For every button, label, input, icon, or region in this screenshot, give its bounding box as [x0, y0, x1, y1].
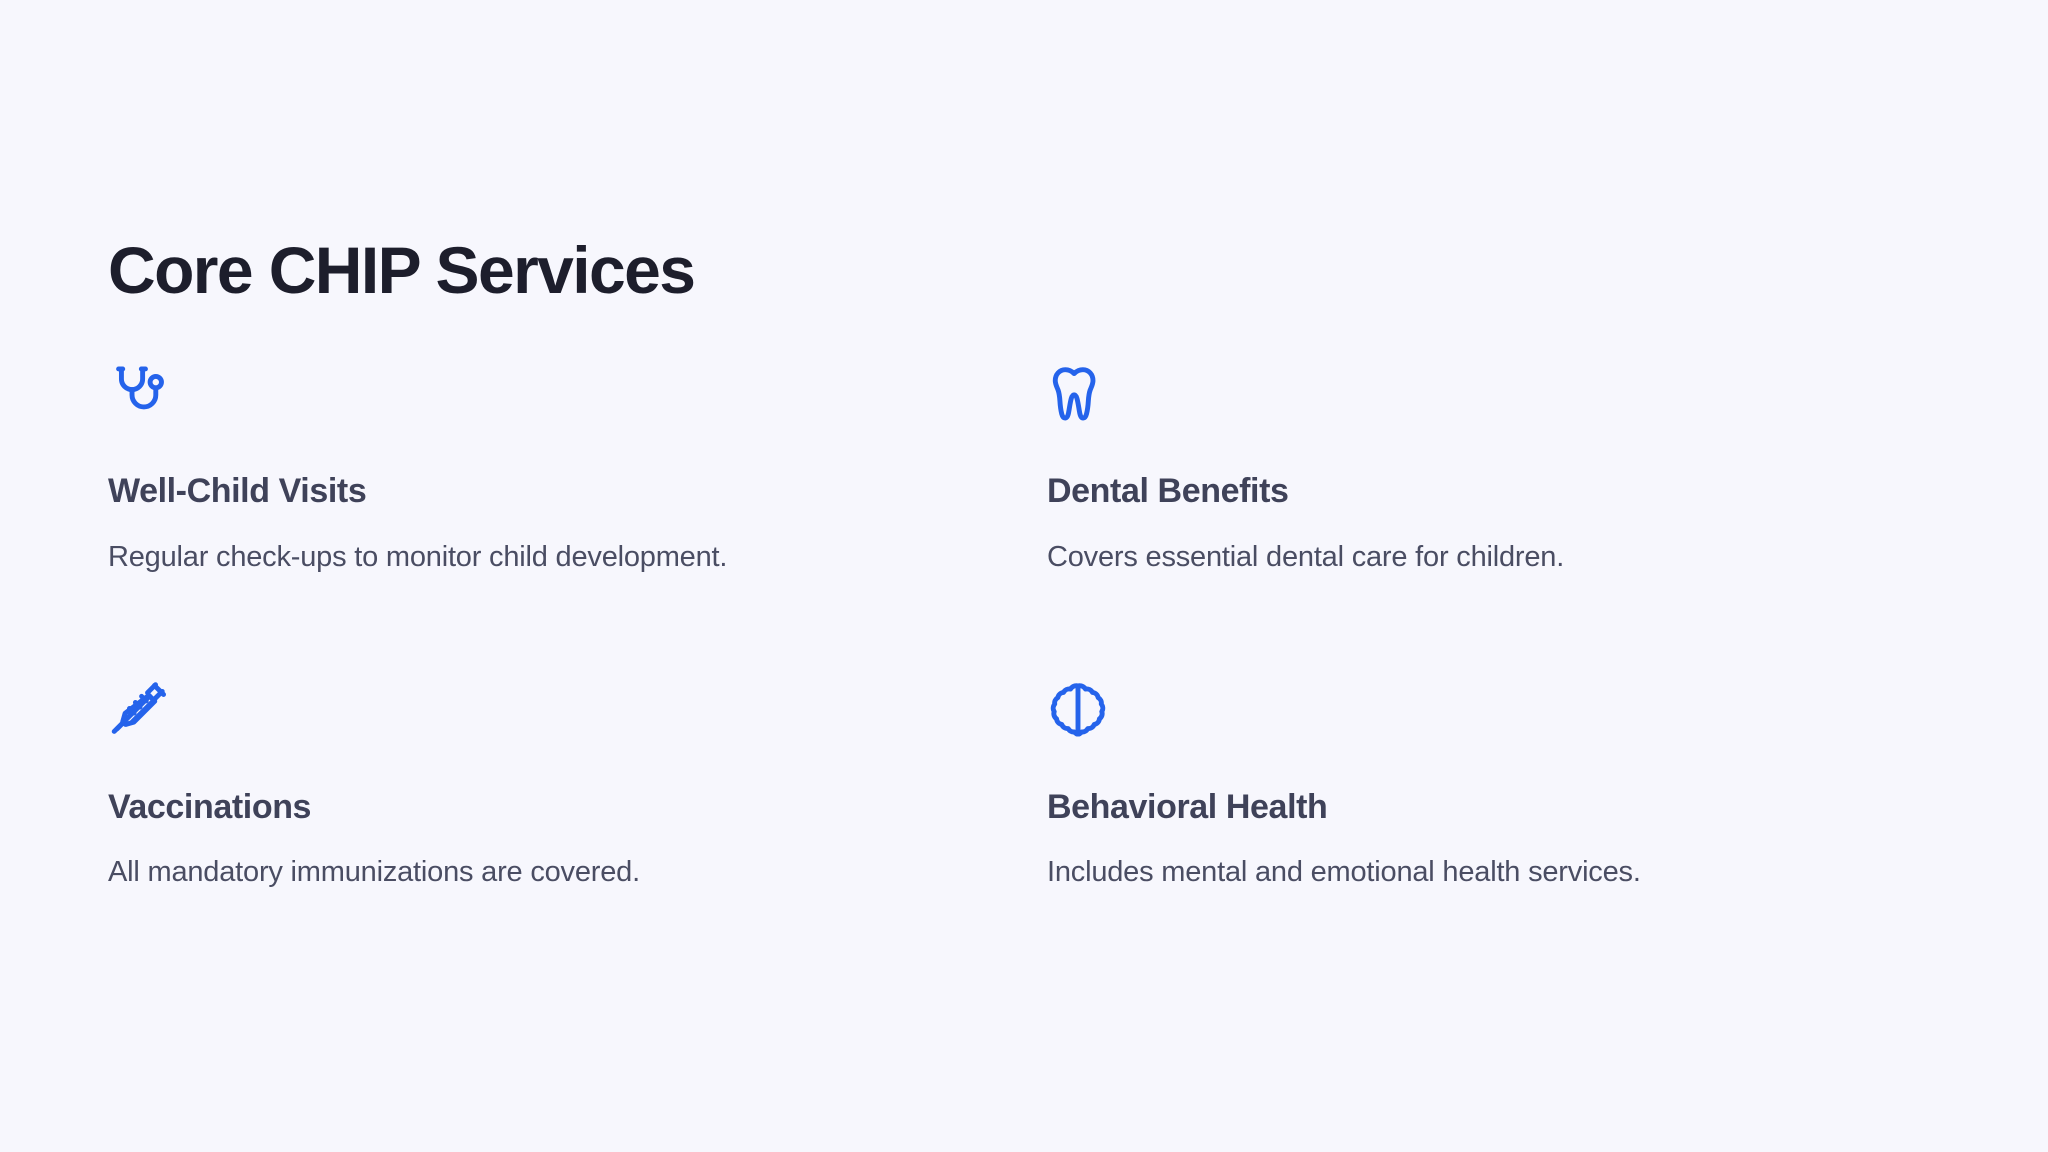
services-section: Core CHIP Services Well-Child Visits Reg…: [0, 0, 2048, 1152]
service-card-description: Includes mental and emotional health ser…: [1047, 854, 1986, 890]
service-card-behavioral-health: Behavioral Health Includes mental and em…: [1047, 679, 1986, 891]
service-card-well-child-visits: Well-Child Visits Regular check-ups to m…: [108, 363, 1047, 575]
services-grid: Well-Child Visits Regular check-ups to m…: [108, 363, 2048, 890]
service-card-title: Vaccinations: [108, 789, 1047, 826]
brain-icon: [1047, 679, 1109, 741]
service-card-description: All mandatory immunizations are covered.: [108, 854, 1047, 890]
service-card-description: Covers essential dental care for childre…: [1047, 539, 1986, 575]
service-card-title: Behavioral Health: [1047, 789, 1986, 826]
service-card-vaccinations: Vaccinations All mandatory immunizations…: [108, 679, 1047, 891]
service-card-dental-benefits: Dental Benefits Covers essential dental …: [1047, 363, 1986, 575]
service-card-title: Dental Benefits: [1047, 473, 1986, 510]
page-title: Core CHIP Services: [108, 236, 2048, 305]
service-card-description: Regular check-ups to monitor child devel…: [108, 539, 1047, 575]
tooth-icon: [1047, 363, 1109, 425]
service-card-title: Well-Child Visits: [108, 473, 1047, 510]
stethoscope-icon: [108, 363, 170, 425]
syringe-icon: [108, 679, 170, 741]
